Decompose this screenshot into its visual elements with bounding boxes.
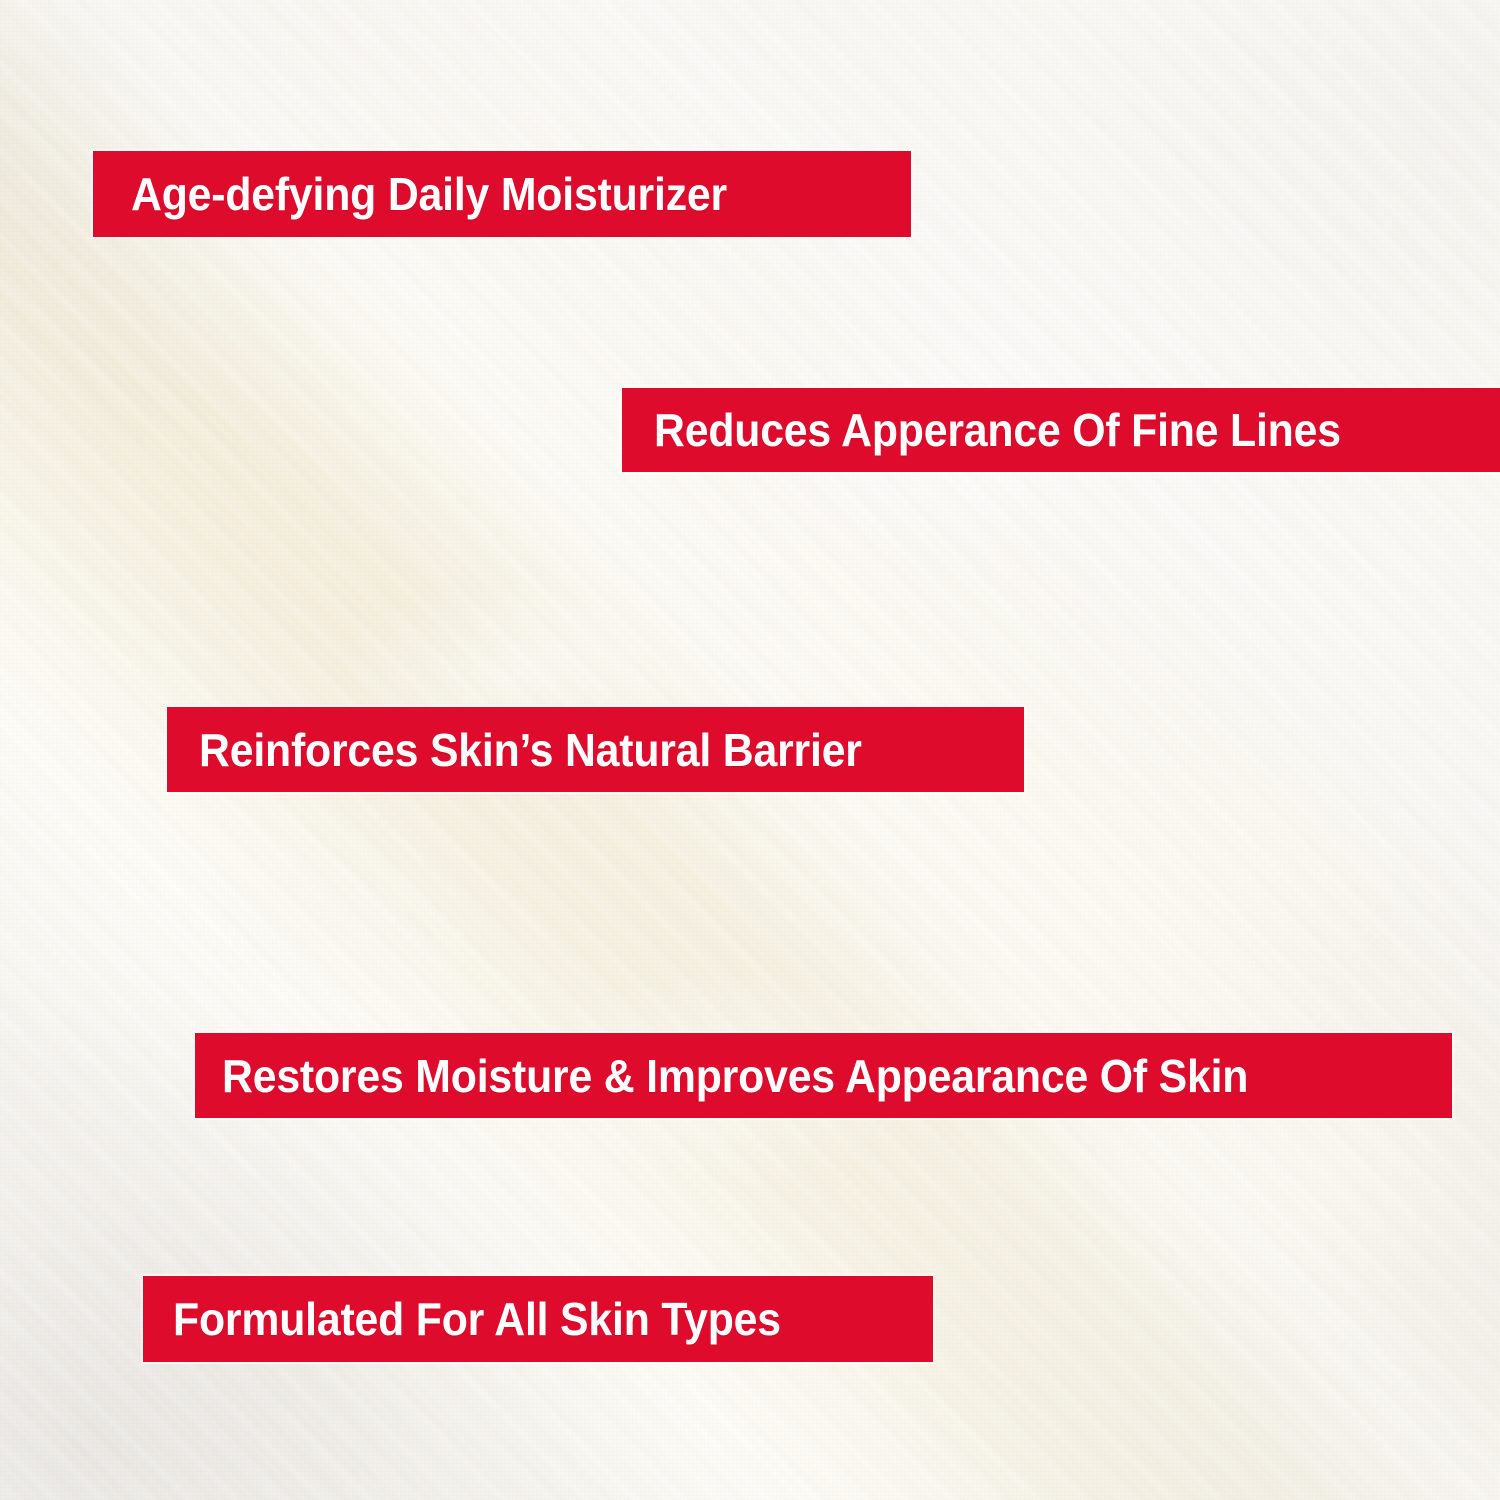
benefit-banner-label: Restores Moisture & Improves Appearance … [222,1053,1248,1099]
benefit-banner-label: Formulated For All Skin Types [173,1296,781,1342]
benefit-banner-age-defying: Age-defying Daily Moisturizer [93,151,911,237]
benefit-banner-label: Reduces Apperance Of Fine Lines [654,407,1341,453]
benefit-banner-label: Age-defying Daily Moisturizer [131,171,727,217]
benefit-banner-label: Reinforces Skin’s Natural Barrier [199,727,862,773]
product-benefits-graphic: Age-defying Daily Moisturizer Reduces Ap… [0,0,1500,1500]
benefit-banner-restores-moisture: Restores Moisture & Improves Appearance … [195,1033,1452,1118]
benefit-banner-all-skin-types: Formulated For All Skin Types [143,1276,933,1362]
benefit-banner-fine-lines: Reduces Apperance Of Fine Lines [622,388,1500,472]
benefit-banner-skin-barrier: Reinforces Skin’s Natural Barrier [167,707,1024,792]
